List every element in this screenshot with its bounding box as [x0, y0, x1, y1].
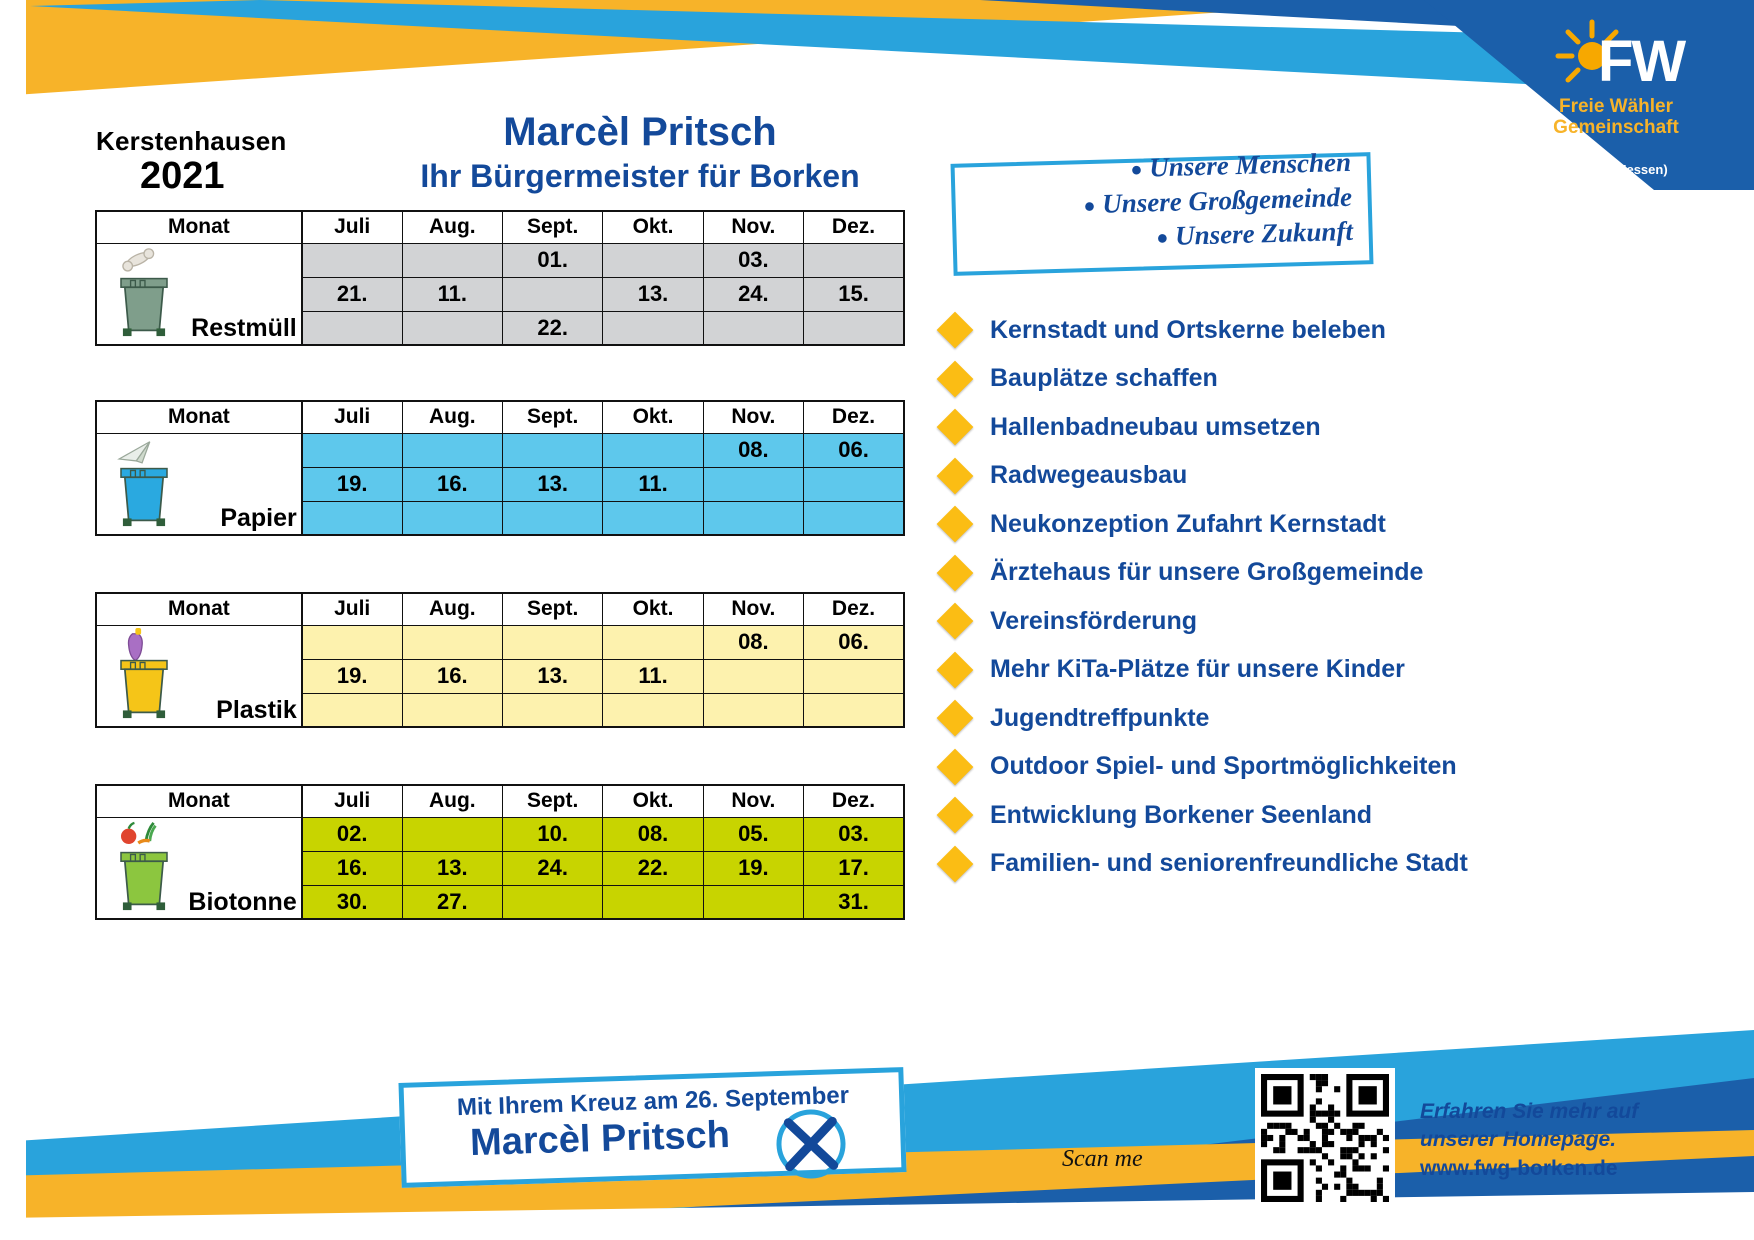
collection-date-cell: [804, 311, 904, 345]
collection-date-cell: 06.: [804, 433, 904, 467]
collection-date-cell: 13.: [402, 851, 502, 885]
homepage-line-2: unserer Homepage.: [1420, 1126, 1720, 1154]
diamond-bullet-icon: [937, 409, 974, 446]
table-row: Plastik08.06.: [96, 625, 904, 659]
table-header-row: MonatJuliAug.Sept.Okt.Nov.Dez.: [96, 785, 904, 817]
collection-date-cell: [302, 311, 402, 345]
collection-date-cell: [804, 501, 904, 535]
waste-type-label: Plastik: [216, 696, 297, 726]
collection-date-cell: [402, 501, 502, 535]
bin-label-group: Restmüll: [97, 244, 301, 345]
schedule-table-bio: MonatJuliAug.Sept.Okt.Nov.Dez.Biotonne02…: [95, 784, 905, 920]
column-header-month: Juli: [302, 785, 402, 817]
homepage-line-1: Erfahren Sie mehr auf: [1420, 1098, 1720, 1126]
column-header-month: Juli: [302, 211, 402, 243]
collection-date-cell: [603, 885, 703, 919]
collection-date-cell: 03.: [804, 817, 904, 851]
goal-text: Outdoor Spiel- und Sportmöglichkeiten: [990, 752, 1457, 781]
collection-date-cell: 19.: [703, 851, 803, 885]
column-header-monat: Monat: [96, 401, 302, 433]
collection-date-cell: [804, 659, 904, 693]
collection-date-cell: [502, 693, 602, 727]
collection-date-cell: 22.: [603, 851, 703, 885]
collection-date-cell: [302, 501, 402, 535]
goal-item: Vereinsförderung: [938, 597, 1728, 646]
collection-date-cell: [703, 501, 803, 535]
slogan-text: Unsere Großgemeinde: [1102, 181, 1352, 218]
goal-text: Neukonzeption Zufahrt Kernstadt: [990, 510, 1386, 539]
diamond-bullet-icon: [937, 457, 974, 494]
fw-logo: FW Freie Wähler Gemeinschaft Borken (Hes…: [1506, 14, 1726, 184]
diamond-bullet-icon: [937, 603, 974, 640]
column-header-monat: Monat: [96, 593, 302, 625]
collection-date-cell: 16.: [402, 467, 502, 501]
collection-date-cell: [402, 433, 502, 467]
collection-date-cell: 08.: [603, 817, 703, 851]
collection-date-cell: 19.: [302, 467, 402, 501]
column-header-month: Okt.: [603, 401, 703, 433]
bottom-white-ribbon: [0, 1188, 1754, 1240]
diamond-bullet-icon: [937, 700, 974, 737]
column-header-month: Nov.: [703, 401, 803, 433]
goal-item: Kernstadt und Ortskerne beleben: [938, 306, 1728, 355]
goal-item: Familien- und seniorenfreundliche Stadt: [938, 840, 1728, 889]
column-header-month: Okt.: [603, 211, 703, 243]
collection-date-cell: [603, 433, 703, 467]
collection-date-cell: 30.: [302, 885, 402, 919]
collection-date-cell: 11.: [603, 467, 703, 501]
waste-type-label: Restmüll: [191, 314, 297, 344]
candidate-role: Ihr Bürgermeister für Borken: [300, 158, 980, 195]
homepage-url: www.fwg-borken.de: [1420, 1155, 1720, 1183]
column-header-month: Dez.: [804, 593, 904, 625]
goal-item: Radwegeausbau: [938, 452, 1728, 501]
column-header-month: Aug.: [402, 401, 502, 433]
column-header-month: Sept.: [502, 401, 602, 433]
waste-type-cell-papier: Papier: [96, 433, 302, 535]
collection-date-cell: [302, 433, 402, 467]
fw-org-line1: Freie Wähler: [1506, 96, 1726, 117]
column-header-month: Aug.: [402, 593, 502, 625]
column-header-monat: Monat: [96, 785, 302, 817]
collection-date-cell: [804, 243, 904, 277]
collection-date-cell: 13.: [502, 467, 602, 501]
collection-date-cell: 08.: [703, 433, 803, 467]
collection-date-cell: 13.: [502, 659, 602, 693]
collection-date-cell: [502, 625, 602, 659]
goal-item: Mehr KiTa-Plätze für unsere Kinder: [938, 646, 1728, 695]
column-header-month: Sept.: [502, 785, 602, 817]
slogan-text: Unsere Menschen: [1149, 147, 1352, 183]
slogan-list: ● Unsere Menschen ● Unsere Großgemeinde …: [951, 144, 1384, 260]
waste-type-cell-restmuell: Restmüll: [96, 243, 302, 345]
restmuell-bin-icon: [105, 246, 183, 338]
goal-item: Neukonzeption Zufahrt Kernstadt: [938, 500, 1728, 549]
goal-text: Familien- und seniorenfreundliche Stadt: [990, 849, 1468, 878]
scan-me-label: Scan me: [1062, 1146, 1143, 1173]
place-name: Kerstenhausen: [96, 126, 286, 157]
collection-date-cell: [302, 625, 402, 659]
fw-org-sub: Borken (Hessen): [1506, 162, 1726, 177]
column-header-month: Okt.: [603, 593, 703, 625]
collection-date-cell: 17.: [804, 851, 904, 885]
waste-type-label: Papier: [220, 504, 296, 534]
table-row: Papier08.06.: [96, 433, 904, 467]
collection-date-cell: 03.: [703, 243, 803, 277]
fw-letters: FW: [1598, 28, 1684, 95]
qr-code[interactable]: [1255, 1068, 1395, 1208]
column-header-month: Sept.: [502, 211, 602, 243]
goal-item: Outdoor Spiel- und Sportmöglichkeiten: [938, 743, 1728, 792]
table-header-row: MonatJuliAug.Sept.Okt.Nov.Dez.: [96, 211, 904, 243]
collection-date-cell: [703, 311, 803, 345]
collection-date-cell: 13.: [603, 277, 703, 311]
column-header-month: Nov.: [703, 593, 803, 625]
collection-date-cell: [804, 467, 904, 501]
collection-date-cell: [402, 693, 502, 727]
collection-date-cell: 11.: [603, 659, 703, 693]
collection-date-cell: [502, 433, 602, 467]
collection-date-cell: [603, 501, 703, 535]
left-white-edge: [0, 0, 26, 1240]
collection-date-cell: [703, 885, 803, 919]
collection-date-cell: 24.: [703, 277, 803, 311]
bullet-dot: ●: [1083, 195, 1096, 217]
goal-text: Jugendtreffpunkte: [990, 704, 1209, 733]
goal-text: Kernstadt und Ortskerne beleben: [990, 316, 1386, 345]
collection-date-cell: [302, 693, 402, 727]
collection-date-cell: 16.: [402, 659, 502, 693]
fw-org-line2: Gemeinschaft: [1506, 117, 1726, 138]
goal-text: Hallenbadneubau umsetzen: [990, 413, 1321, 442]
plastik-bin-icon: [105, 628, 183, 720]
bullet-dot: ●: [1130, 159, 1143, 181]
diamond-bullet-icon: [937, 845, 974, 882]
column-header-month: Juli: [302, 401, 402, 433]
diamond-bullet-icon: [937, 506, 974, 543]
goal-item: Jugendtreffpunkte: [938, 694, 1728, 743]
goal-text: Bauplätze schaffen: [990, 364, 1218, 393]
collection-date-cell: 08.: [703, 625, 803, 659]
goals-list: Kernstadt und Ortskerne belebenBauplätze…: [938, 306, 1728, 888]
diamond-bullet-icon: [937, 651, 974, 688]
papier-bin-icon: [105, 436, 183, 528]
column-header-month: Nov.: [703, 785, 803, 817]
bin-label-group: Papier: [97, 434, 301, 535]
column-header-month: Juli: [302, 593, 402, 625]
slogan-text: Unsere Zukunft: [1175, 216, 1354, 251]
qr-code-icon: [1261, 1074, 1389, 1202]
waste-type-cell-plastik: Plastik: [96, 625, 302, 727]
collection-date-cell: [402, 243, 502, 277]
collection-date-cell: 21.: [302, 277, 402, 311]
column-header-month: Dez.: [804, 785, 904, 817]
collection-date-cell: 10.: [502, 817, 602, 851]
top-yellow-ribbon: [0, 0, 1754, 110]
diamond-bullet-icon: [937, 312, 974, 349]
collection-date-cell: [703, 693, 803, 727]
goal-item: Bauplätze schaffen: [938, 355, 1728, 404]
collection-date-cell: 06.: [804, 625, 904, 659]
bin-label-group: Plastik: [97, 626, 301, 727]
bin-label-group: Biotonne: [97, 818, 301, 919]
collection-date-cell: [402, 625, 502, 659]
collection-date-cell: [603, 693, 703, 727]
collection-date-cell: [603, 625, 703, 659]
column-header-month: Okt.: [603, 785, 703, 817]
column-header-monat: Monat: [96, 211, 302, 243]
collection-date-cell: [402, 311, 502, 345]
schedule-table-plastik: MonatJuliAug.Sept.Okt.Nov.Dez.Plastik08.…: [95, 592, 905, 728]
collection-date-cell: 05.: [703, 817, 803, 851]
goal-text: Radwegeausbau: [990, 461, 1187, 490]
goal-text: Mehr KiTa-Plätze für unsere Kinder: [990, 655, 1405, 684]
collection-date-cell: [603, 311, 703, 345]
diamond-bullet-icon: [937, 554, 974, 591]
table-row: Restmüll01.03.: [96, 243, 904, 277]
collection-date-cell: 31.: [804, 885, 904, 919]
collection-date-cell: 22.: [502, 311, 602, 345]
column-header-month: Nov.: [703, 211, 803, 243]
table-header-row: MonatJuliAug.Sept.Okt.Nov.Dez.: [96, 401, 904, 433]
collection-date-cell: 19.: [302, 659, 402, 693]
collection-date-cell: [703, 659, 803, 693]
collection-date-cell: 02.: [302, 817, 402, 851]
bullet-dot: ●: [1156, 227, 1169, 249]
diamond-bullet-icon: [937, 797, 974, 834]
collection-date-cell: 24.: [502, 851, 602, 885]
schedule-table-restmuell: MonatJuliAug.Sept.Okt.Nov.Dez.Restmüll01…: [95, 210, 905, 346]
collection-date-cell: [804, 693, 904, 727]
goal-item: Hallenbadneubau umsetzen: [938, 403, 1728, 452]
goal-item: Entwicklung Borkener Seenland: [938, 791, 1728, 840]
collection-date-cell: [302, 243, 402, 277]
collection-date-cell: 11.: [402, 277, 502, 311]
goal-text: Ärztehaus für unsere Großgemeinde: [990, 558, 1423, 587]
goal-text: Vereinsförderung: [990, 607, 1197, 636]
collection-date-cell: [703, 467, 803, 501]
column-header-month: Dez.: [804, 401, 904, 433]
collection-date-cell: 15.: [804, 277, 904, 311]
column-header-month: Sept.: [502, 593, 602, 625]
bio-bin-icon: [105, 820, 183, 912]
collection-date-cell: [502, 277, 602, 311]
fw-org-name: Freie Wähler Gemeinschaft: [1506, 96, 1726, 139]
diamond-bullet-icon: [937, 748, 974, 785]
waste-type-label: Biotonne: [188, 888, 296, 918]
homepage-text: Erfahren Sie mehr auf unserer Homepage. …: [1420, 1098, 1720, 1183]
table-header-row: MonatJuliAug.Sept.Okt.Nov.Dez.: [96, 593, 904, 625]
column-header-month: Dez.: [804, 211, 904, 243]
cross-mark-icon: [774, 1107, 848, 1181]
collection-date-cell: [502, 501, 602, 535]
column-header-month: Aug.: [402, 785, 502, 817]
goal-item: Ärztehaus für unsere Großgemeinde: [938, 549, 1728, 598]
collection-date-cell: [603, 243, 703, 277]
diamond-bullet-icon: [937, 360, 974, 397]
schedule-table-papier: MonatJuliAug.Sept.Okt.Nov.Dez.Papier08.0…: [95, 400, 905, 536]
collection-date-cell: 16.: [302, 851, 402, 885]
waste-type-cell-bio: Biotonne: [96, 817, 302, 919]
table-row: Biotonne02.10.08.05.03.: [96, 817, 904, 851]
collection-date-cell: [402, 817, 502, 851]
goal-text: Entwicklung Borkener Seenland: [990, 801, 1372, 830]
collection-date-cell: 01.: [502, 243, 602, 277]
collection-date-cell: 27.: [402, 885, 502, 919]
collection-date-cell: [502, 885, 602, 919]
column-header-month: Aug.: [402, 211, 502, 243]
candidate-name: Marcèl Pritsch: [340, 110, 940, 155]
year-label: 2021: [140, 155, 225, 198]
